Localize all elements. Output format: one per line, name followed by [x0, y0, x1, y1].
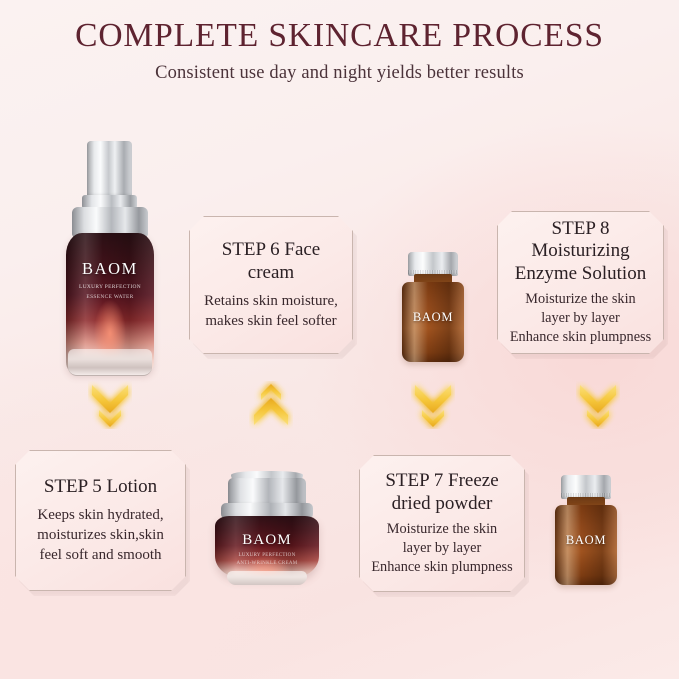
double-chevron-down-icon — [88, 381, 132, 429]
step-6-body-line-2: makes skin feel softer — [204, 311, 338, 331]
double-chevron-down-icon — [576, 381, 620, 429]
step-6-heading-line-1: STEP 6 Face — [222, 239, 321, 262]
page-title: COMPLETE SKINCARE PROCESS — [0, 18, 679, 55]
step-6-card: STEP 6 Face cream Retains skin moisture,… — [189, 216, 353, 354]
step-8-heading-line-1: STEP 8 — [515, 218, 646, 241]
step-8-heading-line-3: Enzyme Solution — [515, 263, 646, 286]
product-cream-jar: BAOM LUXURY PERFECTION ANTI-WRINKLE CREA… — [215, 471, 319, 587]
step-7-heading-line-2: dried powder — [385, 493, 498, 516]
product-amber-vial-top: BAOM — [402, 252, 464, 362]
step-5-heading: STEP 5 Lotion — [44, 476, 157, 499]
step-7-heading: STEP 7 Freeze dried powder — [385, 470, 498, 516]
step-8-body-line-1: Moisturize the skin — [510, 290, 651, 309]
step-7-body: Moisturize the skin layer by layer Enhan… — [371, 520, 512, 577]
jar-brand-label: BAOM — [215, 532, 319, 549]
vial-cap-icon — [408, 252, 458, 276]
double-chevron-up-icon — [249, 381, 293, 429]
step-7-body-line-2: layer by layer — [371, 539, 512, 558]
step-7-card: STEP 7 Freeze dried powder Moisturize th… — [359, 455, 525, 592]
step-8-card: STEP 8 Moisturizing Enzyme Solution Mois… — [497, 211, 664, 354]
serum-cap-icon — [87, 141, 132, 197]
serum-base — [68, 349, 152, 376]
step-5-card: STEP 5 Lotion Keeps skin hydrated, moist… — [15, 450, 186, 591]
jar-lid-icon — [228, 478, 306, 506]
serum-sublabel-2: ESSENCE WATER — [62, 294, 158, 300]
page-subtitle: Consistent use day and night yields bett… — [0, 63, 679, 84]
step-5-body-line-1: Keeps skin hydrated, — [37, 505, 164, 525]
step-8-heading: STEP 8 Moisturizing Enzyme Solution — [515, 218, 646, 286]
step-7-body-line-1: Moisturize the skin — [371, 520, 512, 539]
step-8-body: Moisturize the skin layer by layer Enhan… — [510, 290, 651, 347]
step-5-body-line-3: feel soft and smooth — [37, 545, 164, 565]
arrow-vial-to-step7 — [411, 381, 455, 429]
arrow-jar-to-step6 — [249, 381, 293, 429]
product-serum-bottle: BAOM LUXURY PERFECTION ESSENCE WATER — [62, 141, 158, 374]
double-chevron-down-icon — [411, 381, 455, 429]
jar-sublabel-1: LUXURY PERFECTION — [215, 553, 319, 558]
product-amber-vial-bottom: BAOM — [555, 475, 617, 585]
vial-brand-label: BAOM — [555, 533, 617, 548]
step-7-body-line-3: Enhance skin plumpness — [371, 558, 512, 577]
skincare-process-infographic: COMPLETE SKINCARE PROCESS Consistent use… — [0, 0, 679, 679]
jar-base — [227, 571, 307, 585]
step-6-body: Retains skin moisture, makes skin feel s… — [204, 291, 338, 331]
step-6-body-line-1: Retains skin moisture, — [204, 291, 338, 311]
step-8-heading-line-2: Moisturizing — [515, 240, 646, 263]
jar-sublabel-2: ANTI-WRINKLE CREAM — [215, 561, 319, 566]
serum-brand-label: BAOM — [62, 259, 158, 279]
vial-cap-icon — [561, 475, 611, 499]
step-5-body: Keeps skin hydrated, moisturizes skin,sk… — [37, 505, 164, 565]
step-6-heading-line-2: cream — [222, 262, 321, 285]
serum-sublabel-1: LUXURY PERFECTION — [62, 284, 158, 290]
vial-brand-label: BAOM — [402, 310, 464, 325]
step-8-body-line-2: layer by layer — [510, 309, 651, 328]
step-7-heading-line-1: STEP 7 Freeze — [385, 470, 498, 493]
step-5-body-line-2: moisturizes skin,skin — [37, 525, 164, 545]
step-8-body-line-3: Enhance skin plumpness — [510, 328, 651, 347]
arrow-serum-to-step5 — [88, 381, 132, 429]
step-6-heading: STEP 6 Face cream — [222, 239, 321, 285]
arrow-step8-to-vial — [576, 381, 620, 429]
